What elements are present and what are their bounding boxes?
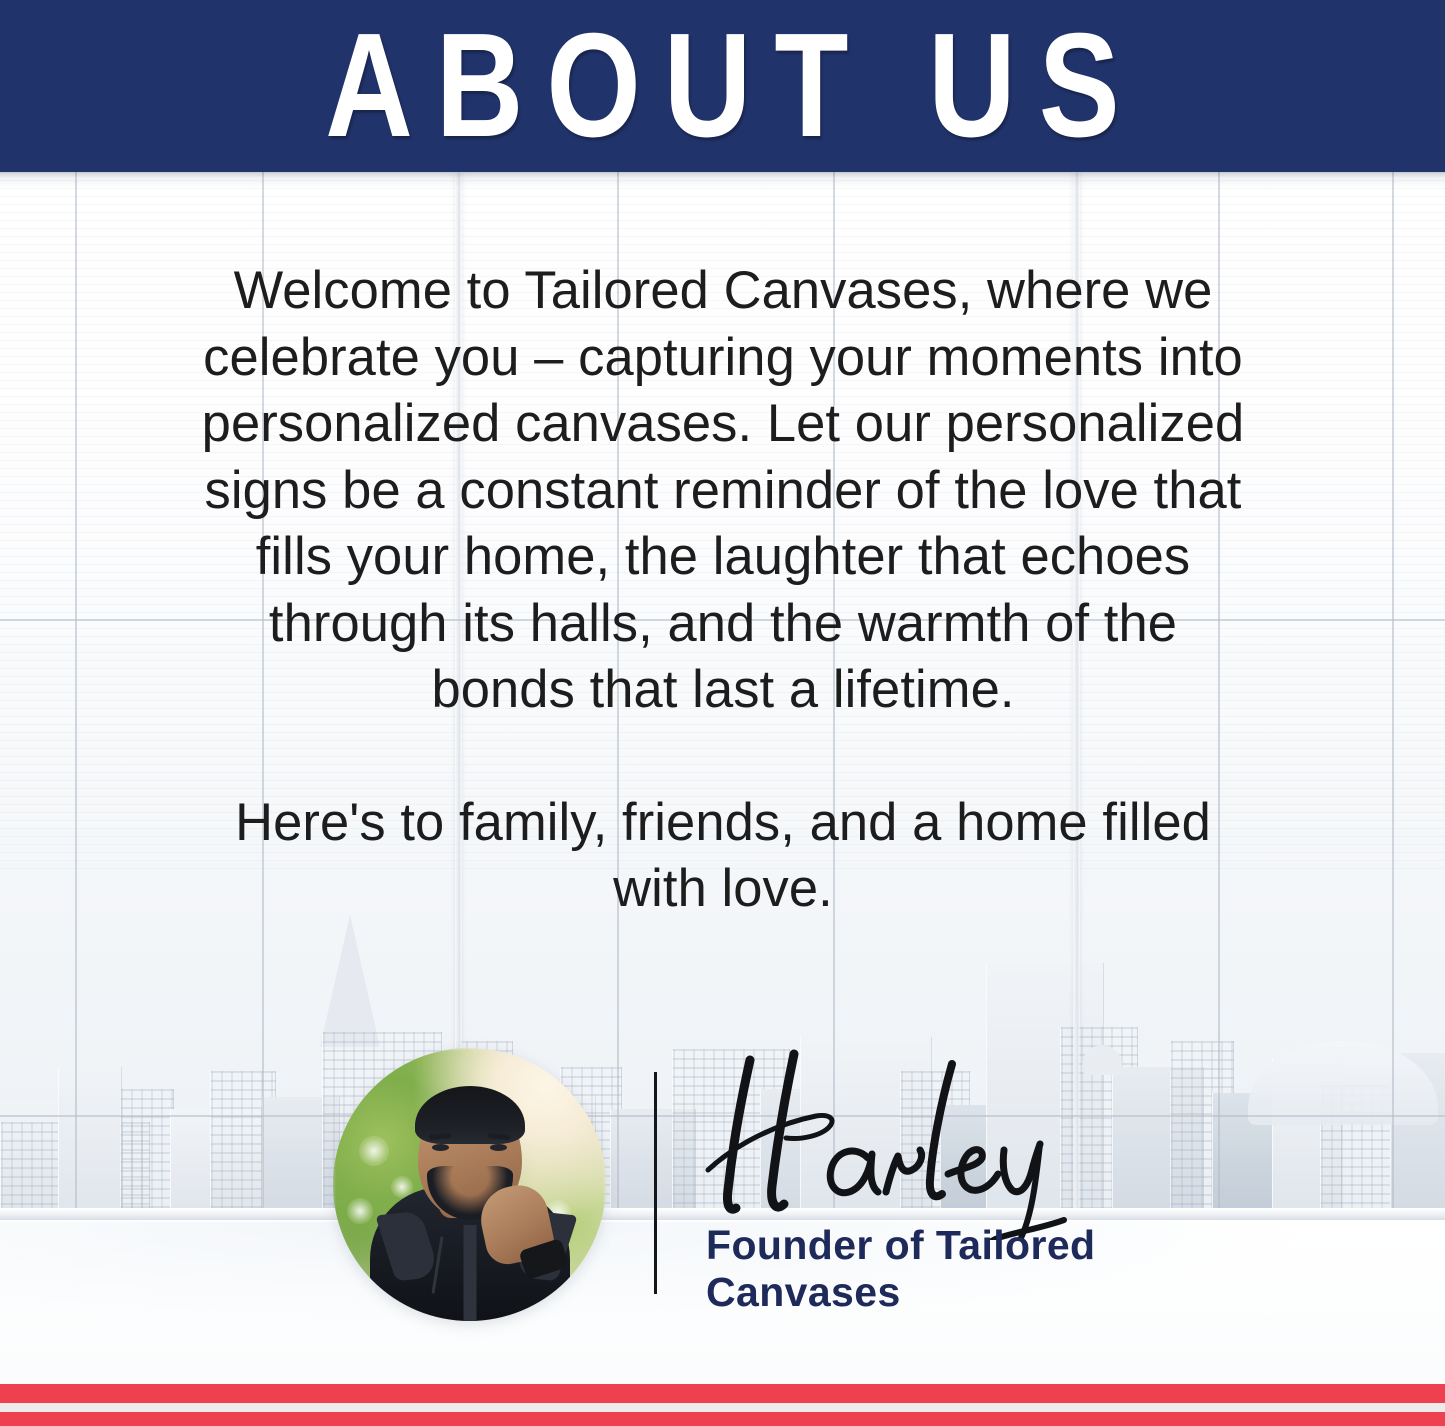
- about-us-banner: ABOUT US: [0, 0, 1445, 172]
- footer-stripe-top: [0, 1384, 1445, 1403]
- about-paragraph-2: Here's to family, friends, and a home fi…: [198, 790, 1247, 923]
- window-mullion: [1392, 172, 1394, 1218]
- signature-role-line-2: Canvases: [706, 1269, 1176, 1316]
- signature-role-line-1: Founder of Tailored: [706, 1222, 1176, 1269]
- footer-stripe-gap: [0, 1403, 1445, 1412]
- signature-divider: [654, 1072, 657, 1294]
- page-title: ABOUT US: [302, 11, 1142, 161]
- founder-portrait-photo: [333, 1048, 606, 1321]
- paragraph-spacer: [193, 724, 1253, 790]
- avatar: [333, 1048, 606, 1321]
- about-us-copy: Welcome to Tailored Canvases, where we c…: [193, 258, 1253, 923]
- signature-role: Founder of Tailored Canvases: [706, 1222, 1176, 1316]
- about-us-page: ABOUT US Welcome to Tailored Canvases, w…: [0, 0, 1445, 1426]
- footer-stripe-bottom: [0, 1412, 1445, 1426]
- window-mullion: [75, 172, 77, 1218]
- signature-script-harley: [690, 1040, 1110, 1240]
- banner-drop-shadow: [0, 172, 1445, 188]
- about-paragraph-1: Welcome to Tailored Canvases, where we c…: [198, 258, 1247, 724]
